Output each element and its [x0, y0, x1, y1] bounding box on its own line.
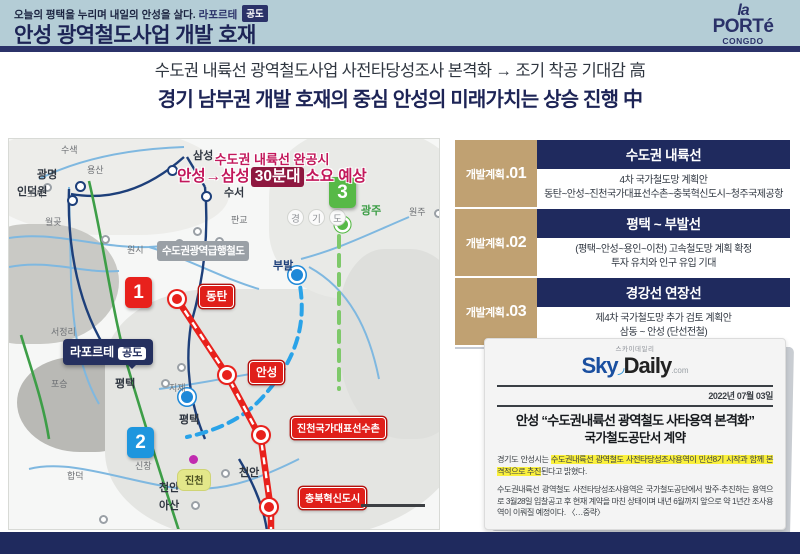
tooltip-brand-name: 라포르테: [70, 345, 114, 359]
skydaily-logo-english: Sky◞Daily.com: [497, 354, 773, 382]
map-badge-1[interactable]: 1: [125, 277, 152, 308]
map-node-sinchang: [191, 501, 200, 510]
plan-tag-number-01: .01: [505, 165, 526, 183]
map-label-suseo: 수서: [224, 184, 244, 200]
callout-line-2-post: 소요 예상: [305, 168, 366, 185]
plan-tag-02: 개발계획.02: [455, 209, 537, 276]
map-node-hapdeok: [99, 515, 108, 524]
map-gtx-label: 수도권광역급행철도: [157, 241, 249, 261]
map-plate-anseong[interactable]: 안성: [249, 361, 284, 384]
map-label-wolgot: 월곶: [45, 215, 62, 228]
callout-line-2-pre: 안성→삼성: [177, 168, 250, 185]
plan-content-03: 경강선 연장선 제4차 국가철도망 추가 검토 계획안 삼동 ~ 안성 (단선전…: [537, 278, 790, 345]
map-label-poseung: 포승: [51, 377, 68, 390]
callout-line-2-highlight: 30분대: [251, 167, 305, 187]
plan-detail-01-0: 4차 국가철도망 계획안: [539, 174, 788, 188]
map-node-anseong: [219, 367, 235, 383]
news-rule-top: [497, 385, 773, 387]
plan-tag-label-01: 개발계획: [466, 166, 504, 182]
map-label-jije: 지제: [169, 381, 186, 394]
skydaily-sky-text: Sky: [581, 353, 617, 378]
headline-block: 수도권 내륙선 광역철도사업 사전타당성조사 본격화 → 조기 착공 기대감 高…: [0, 58, 800, 115]
skydaily-com-text: .com: [671, 366, 688, 375]
map-node-wolgot: [101, 235, 110, 244]
map-callout-travel-time: 수도권 내륙선 완공시 안성→삼성30분대소요 예상: [157, 151, 387, 185]
plan-details-02: (평택~안성~용인~이천) 고속철도망 계획 확정 투자 유치와 인구 유입 기…: [537, 238, 790, 276]
news-paragraph-1: 경기도 안성시는 수도권내륙선 광역철도 사전타당성조사용역이 민선8기 시작과…: [497, 454, 773, 477]
map-label-wonsi: 원시: [127, 243, 144, 256]
map-label-seojeongri: 서정리: [51, 325, 76, 338]
map-label-bubal: 부발: [273, 257, 293, 273]
plan-row-03[interactable]: 개발계획.03 경강선 연장선 제4차 국가철도망 추가 검토 계획안 삼동 ~…: [455, 278, 790, 345]
news-p1-post: 된다고 밝혔다.: [541, 467, 587, 476]
map-plate-chungbuk[interactable]: 충북혁신도시: [299, 487, 366, 509]
map-dot-jincheon-city: [189, 455, 198, 464]
plan-tag-03: 개발계획.03: [455, 278, 537, 345]
development-plan-table: 개발계획.01 수도권 내륙선 4차 국가철도망 계획안 동탄~안성~진천국가대…: [455, 140, 790, 349]
plan-tag-number-03: .03: [505, 303, 526, 321]
page-header: 오늘의 평택을 누리며 내일의 안성을 살다. 라포르테 공도 안성 광역철도사…: [0, 0, 800, 52]
headline-line-2: 경기 남부권 개발 호재의 중심 안성의 미래가치는 상승 진행 中: [0, 85, 800, 115]
news-date: 2022년 07월 03일: [497, 389, 773, 402]
news-subheadline: 국가철도공단서 계약: [497, 430, 773, 447]
map-label-pangyo: 판교: [231, 213, 248, 226]
map-label-yongsan: 용산: [87, 163, 104, 176]
map-label-susaek: 수색: [61, 143, 78, 156]
news-rule-bottom: [497, 405, 773, 407]
map-node-dongtan: [169, 291, 185, 307]
map-node-suseo: [201, 191, 212, 202]
map-node-gwangmyeong: [75, 181, 86, 192]
plan-detail-01-1: 동탄~안성~진천국가대표선수촌~충북혁신도시~청주국제공항: [539, 188, 788, 202]
map-label-sinchang: 신창: [135, 459, 152, 472]
map-node-indeogwon: [67, 195, 78, 206]
callout-line-2: 안성→삼성30분대소요 예상: [157, 168, 387, 185]
logo-condo-text: CONGDO: [704, 36, 782, 46]
map-scale-bar: [361, 504, 425, 507]
plan-detail-03-0: 제4차 국가철도망 추가 검토 계획안: [539, 312, 788, 326]
plan-tag-01: 개발계획.01: [455, 140, 537, 207]
map-label-pyeongtaek-w: 평택: [115, 375, 135, 391]
news-paragraph-2: 수도권내륙선 광역철도 사전타당성조사용역은 국가철도공단에서 발주·추진하는 …: [497, 484, 773, 519]
region-char-gyeong: 경: [287, 209, 304, 226]
plan-content-02: 평택 ~ 부발선 (평택~안성~용인~이천) 고속철도망 계획 확정 투자 유치…: [537, 209, 790, 276]
map-badge-2[interactable]: 2: [127, 427, 154, 458]
map-label-gwangmyeong: 광명: [37, 166, 57, 182]
map-node-chungbuk: [261, 499, 277, 515]
map-label-pyeongtaek: 평택: [179, 411, 199, 427]
map-node-jije: [177, 363, 186, 372]
plan-content-01: 수도권 내륙선 4차 국가철도망 계획안 동탄~안성~진천국가대표선수촌~충북혁…: [537, 140, 790, 207]
page-title: 안성 광역철도사업 개발 호재: [14, 19, 256, 49]
map-label-indeogwon: 인덕원: [17, 183, 47, 199]
plan-tag-number-02: .02: [505, 234, 526, 252]
callout-line-1: 수도권 내륙선 완공시: [157, 151, 387, 168]
laporte-logo: la PORTé CONGDO: [704, 4, 782, 48]
map-plate-dongtan[interactable]: 동탄: [199, 285, 234, 308]
region-char-do: 도: [329, 209, 346, 226]
plan-row-01[interactable]: 개발계획.01 수도권 내륙선 4차 국가철도망 계획안 동탄~안성~진천국가대…: [455, 140, 790, 207]
map-label-asan: 아산: [159, 497, 179, 513]
plan-title-03: 경강선 연장선: [537, 278, 790, 307]
map-label-cheonan: 천안: [239, 464, 259, 480]
plan-title-01: 수도권 내륙선: [537, 140, 790, 169]
news-article-card[interactable]: 스카이데일리 Sky◞Daily.com 2022년 07월 03일 안성 “수…: [484, 338, 786, 530]
infographic-page: 오늘의 평택을 누리며 내일의 안성을 살다. 라포르테 공도 안성 광역철도사…: [0, 0, 800, 554]
plan-details-01: 4차 국가철도망 계획안 동탄~안성~진천국가대표선수촌~충북혁신도시~청주국제…: [537, 169, 790, 207]
map-node-wonju: [434, 209, 440, 218]
plan-tag-label-02: 개발계획: [466, 235, 504, 251]
plan-row-02[interactable]: 개발계획.02 평택 ~ 부발선 (평택~안성~용인~이천) 고속철도망 계획 …: [455, 209, 790, 276]
logo-porte-text: PORTé: [704, 18, 782, 36]
map-node-jincheon: [253, 427, 269, 443]
page-footer: [0, 532, 800, 554]
map-node-cheonan: [221, 469, 230, 478]
map-label-hapdeok: 합덕: [67, 469, 84, 482]
region-char-gi: 기: [308, 209, 325, 226]
news-headline: 안성 “수도권내륙선 광역철도 사타용역 본격화”: [497, 412, 773, 429]
skydaily-daily-text: Daily: [624, 353, 672, 378]
map-region-chip-jincheon: 진천: [177, 469, 211, 491]
map-tooltip-laporte[interactable]: 라포르테공도: [63, 339, 153, 365]
railway-map[interactable]: 수색 소사 광명 용산 삼성 수서 인덕원 판교 광주 월곶 원시 어천 원주 …: [8, 138, 440, 530]
headline-line-1: 수도권 내륙선 광역철도사업 사전타당성조사 본격화 → 조기 착공 기대감 高: [0, 58, 800, 84]
map-region-gyeonggi-do: 경 기 도: [287, 209, 346, 226]
map-node-pangyo: [193, 227, 202, 236]
map-label-wonju: 원주: [409, 205, 426, 218]
map-plate-jincheon-village[interactable]: 진천국가대표선수촌: [291, 417, 386, 439]
skydaily-logo: 스카이데일리 Sky◞Daily.com: [497, 345, 773, 382]
plan-title-02: 평택 ~ 부발선: [537, 209, 790, 238]
plan-detail-02-0: (평택~안성~용인~이천) 고속철도망 계획 확정: [539, 243, 788, 257]
map-label-gwangju: 광주: [361, 202, 381, 218]
tooltip-brand-chip: 공도: [118, 347, 146, 360]
plan-detail-02-1: 투자 유치와 인구 유입 기대: [539, 257, 788, 271]
plan-tag-label-03: 개발계획: [466, 304, 504, 320]
news-p1-pre: 경기도 안성시는: [497, 455, 551, 464]
